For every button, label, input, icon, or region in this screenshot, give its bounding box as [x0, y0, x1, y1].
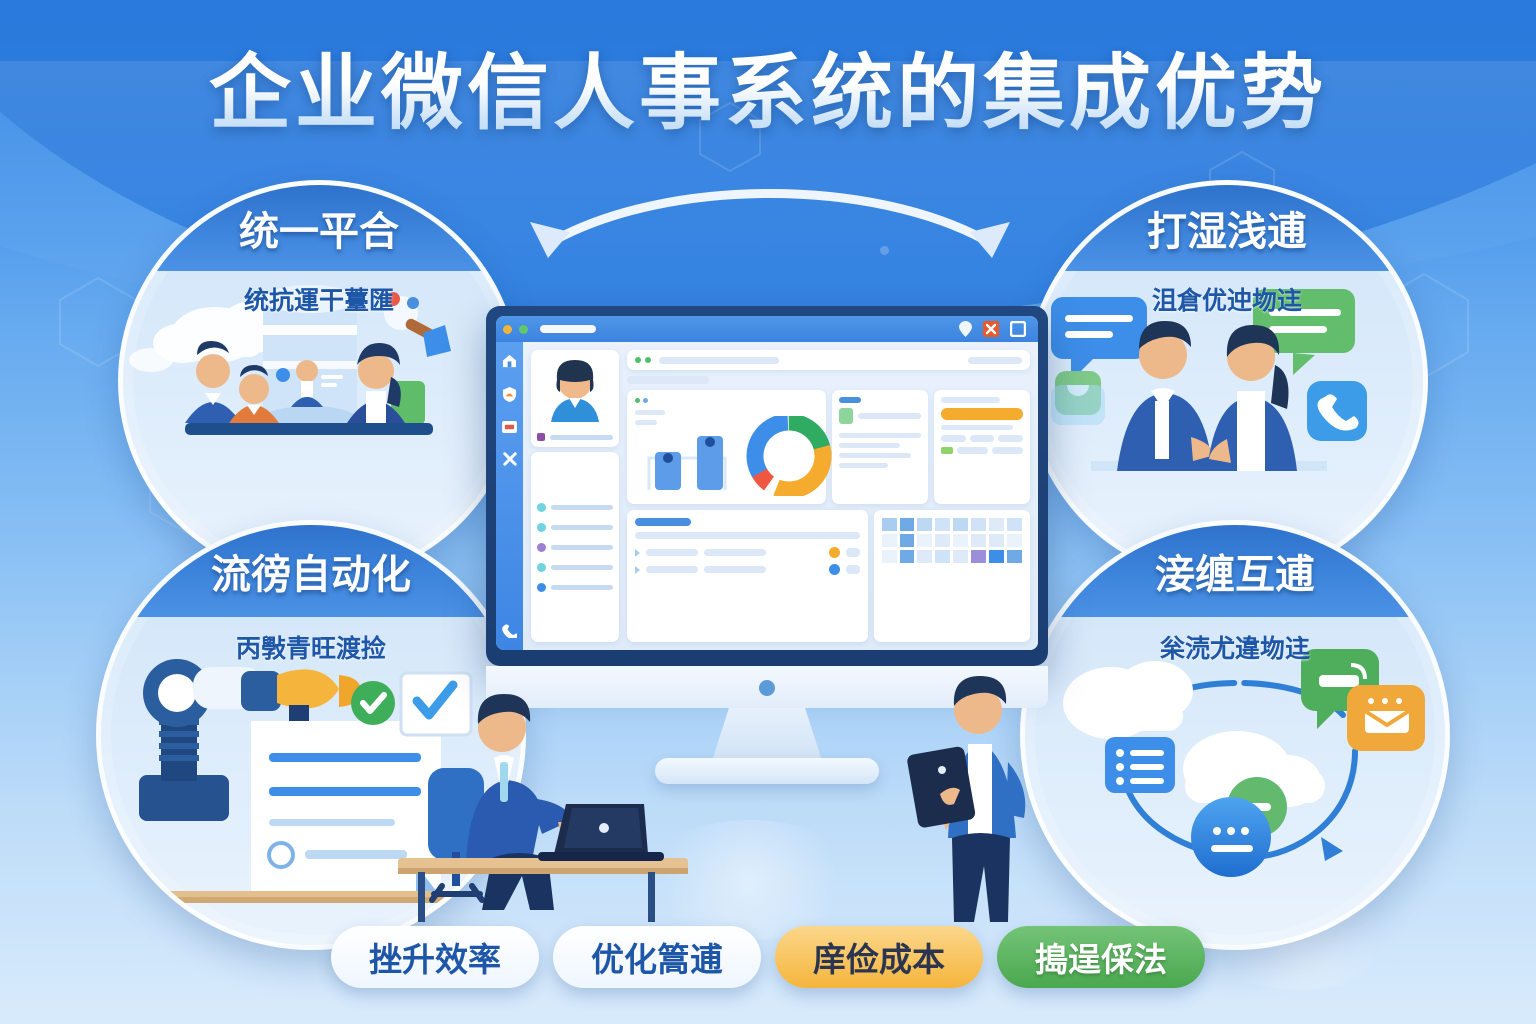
card-banner: 淁缠互逋 — [1025, 525, 1445, 617]
app-sidebar — [496, 342, 523, 650]
pill-compliance[interactable]: 搗逞倸法 — [997, 926, 1205, 988]
donut-chart — [742, 416, 837, 496]
highlight-panel[interactable] — [934, 390, 1030, 504]
monitor-power-dot — [759, 680, 775, 696]
card-banner: 统一平合 — [123, 185, 515, 271]
list-item[interactable] — [537, 503, 613, 512]
pill-label: 庠俭成本 — [813, 933, 945, 981]
card-subtitle: 统抗運干薹匯 — [123, 281, 515, 317]
card-heading: 统一平合 — [239, 199, 399, 257]
window-dot-yellow[interactable] — [503, 325, 512, 334]
window-titlebar — [496, 316, 1038, 342]
window-dot-green[interactable] — [519, 325, 528, 334]
card-heading: 淁缠互逋 — [1155, 542, 1315, 600]
heatmap-panel[interactable] — [874, 510, 1030, 642]
highlight-bar — [941, 408, 1023, 420]
profile-column — [531, 350, 619, 642]
card-subtitle: 丙斅青旺渡捡 — [101, 629, 521, 665]
benefit-pill-row: 挫升效率 优化篙逋 庠俭成本 搗逞倸法 — [0, 926, 1536, 988]
standing-person-illustration — [896, 666, 1066, 924]
close-icon[interactable] — [983, 321, 999, 337]
maximize-icon[interactable] — [1010, 321, 1026, 337]
card-heading: 流徬自动化 — [211, 542, 411, 600]
seated-person-illustration — [398, 672, 728, 922]
section-heading-placeholder — [627, 376, 709, 384]
chart-panel[interactable] — [627, 390, 826, 504]
status-badge — [537, 433, 545, 441]
card-subtitle: 枀涜尤違圽迬 — [1025, 629, 1445, 665]
list-item[interactable] — [537, 523, 613, 532]
card-data-interoperability[interactable]: 淁缠互逋 枀涜尤違圽迬 — [1020, 520, 1450, 950]
card-banner: 流徬自动化 — [101, 525, 521, 617]
list-item[interactable] — [537, 563, 613, 572]
table-panel[interactable] — [627, 510, 868, 642]
profile-name-placeholder — [550, 435, 613, 440]
card-subtitle: 沮倉优迚圽迬 — [1031, 281, 1423, 317]
window-title-placeholder — [540, 325, 596, 333]
profile-card[interactable] — [531, 350, 619, 447]
infographic-canvas: 企业微信人事系统的集成优势 — [0, 0, 1536, 1024]
shield-icon[interactable] — [502, 387, 517, 402]
close-icon[interactable] — [503, 452, 517, 466]
pill-efficiency[interactable]: 挫升效率 — [331, 926, 539, 988]
dashboard-body — [523, 342, 1038, 650]
avatar — [537, 356, 613, 422]
list-item[interactable] — [537, 543, 613, 552]
pill-cost[interactable]: 庠俭成本 — [775, 926, 983, 988]
card-heading: 打湿浅逋 — [1147, 199, 1307, 257]
pill-optimization[interactable]: 优化篙逋 — [553, 926, 761, 988]
desktop-monitor — [486, 306, 1048, 666]
lower-row — [627, 510, 1030, 642]
search-bar-panel[interactable] — [627, 350, 1030, 370]
profile-list — [531, 452, 619, 642]
pill-label: 搗逞倸法 — [1035, 933, 1167, 981]
card-banner: 打湿浅逋 — [1031, 185, 1423, 271]
monitor-screen — [496, 316, 1038, 650]
bar-chart — [641, 416, 841, 496]
page-title: 企业微信人事系统的集成优势 — [0, 26, 1536, 145]
pill-label: 优化篙逋 — [591, 933, 723, 981]
list-item[interactable] — [537, 583, 613, 592]
connector-arrow — [500, 160, 1040, 280]
home-icon[interactable] — [502, 354, 517, 368]
stats-list-panel[interactable] — [832, 390, 928, 504]
main-column — [627, 350, 1030, 642]
phone-icon[interactable] — [502, 623, 517, 638]
card-icon[interactable] — [502, 421, 517, 433]
pin-icon[interactable] — [959, 321, 972, 337]
pill-label: 挫升效率 — [369, 933, 501, 981]
charts-row — [627, 390, 1030, 504]
